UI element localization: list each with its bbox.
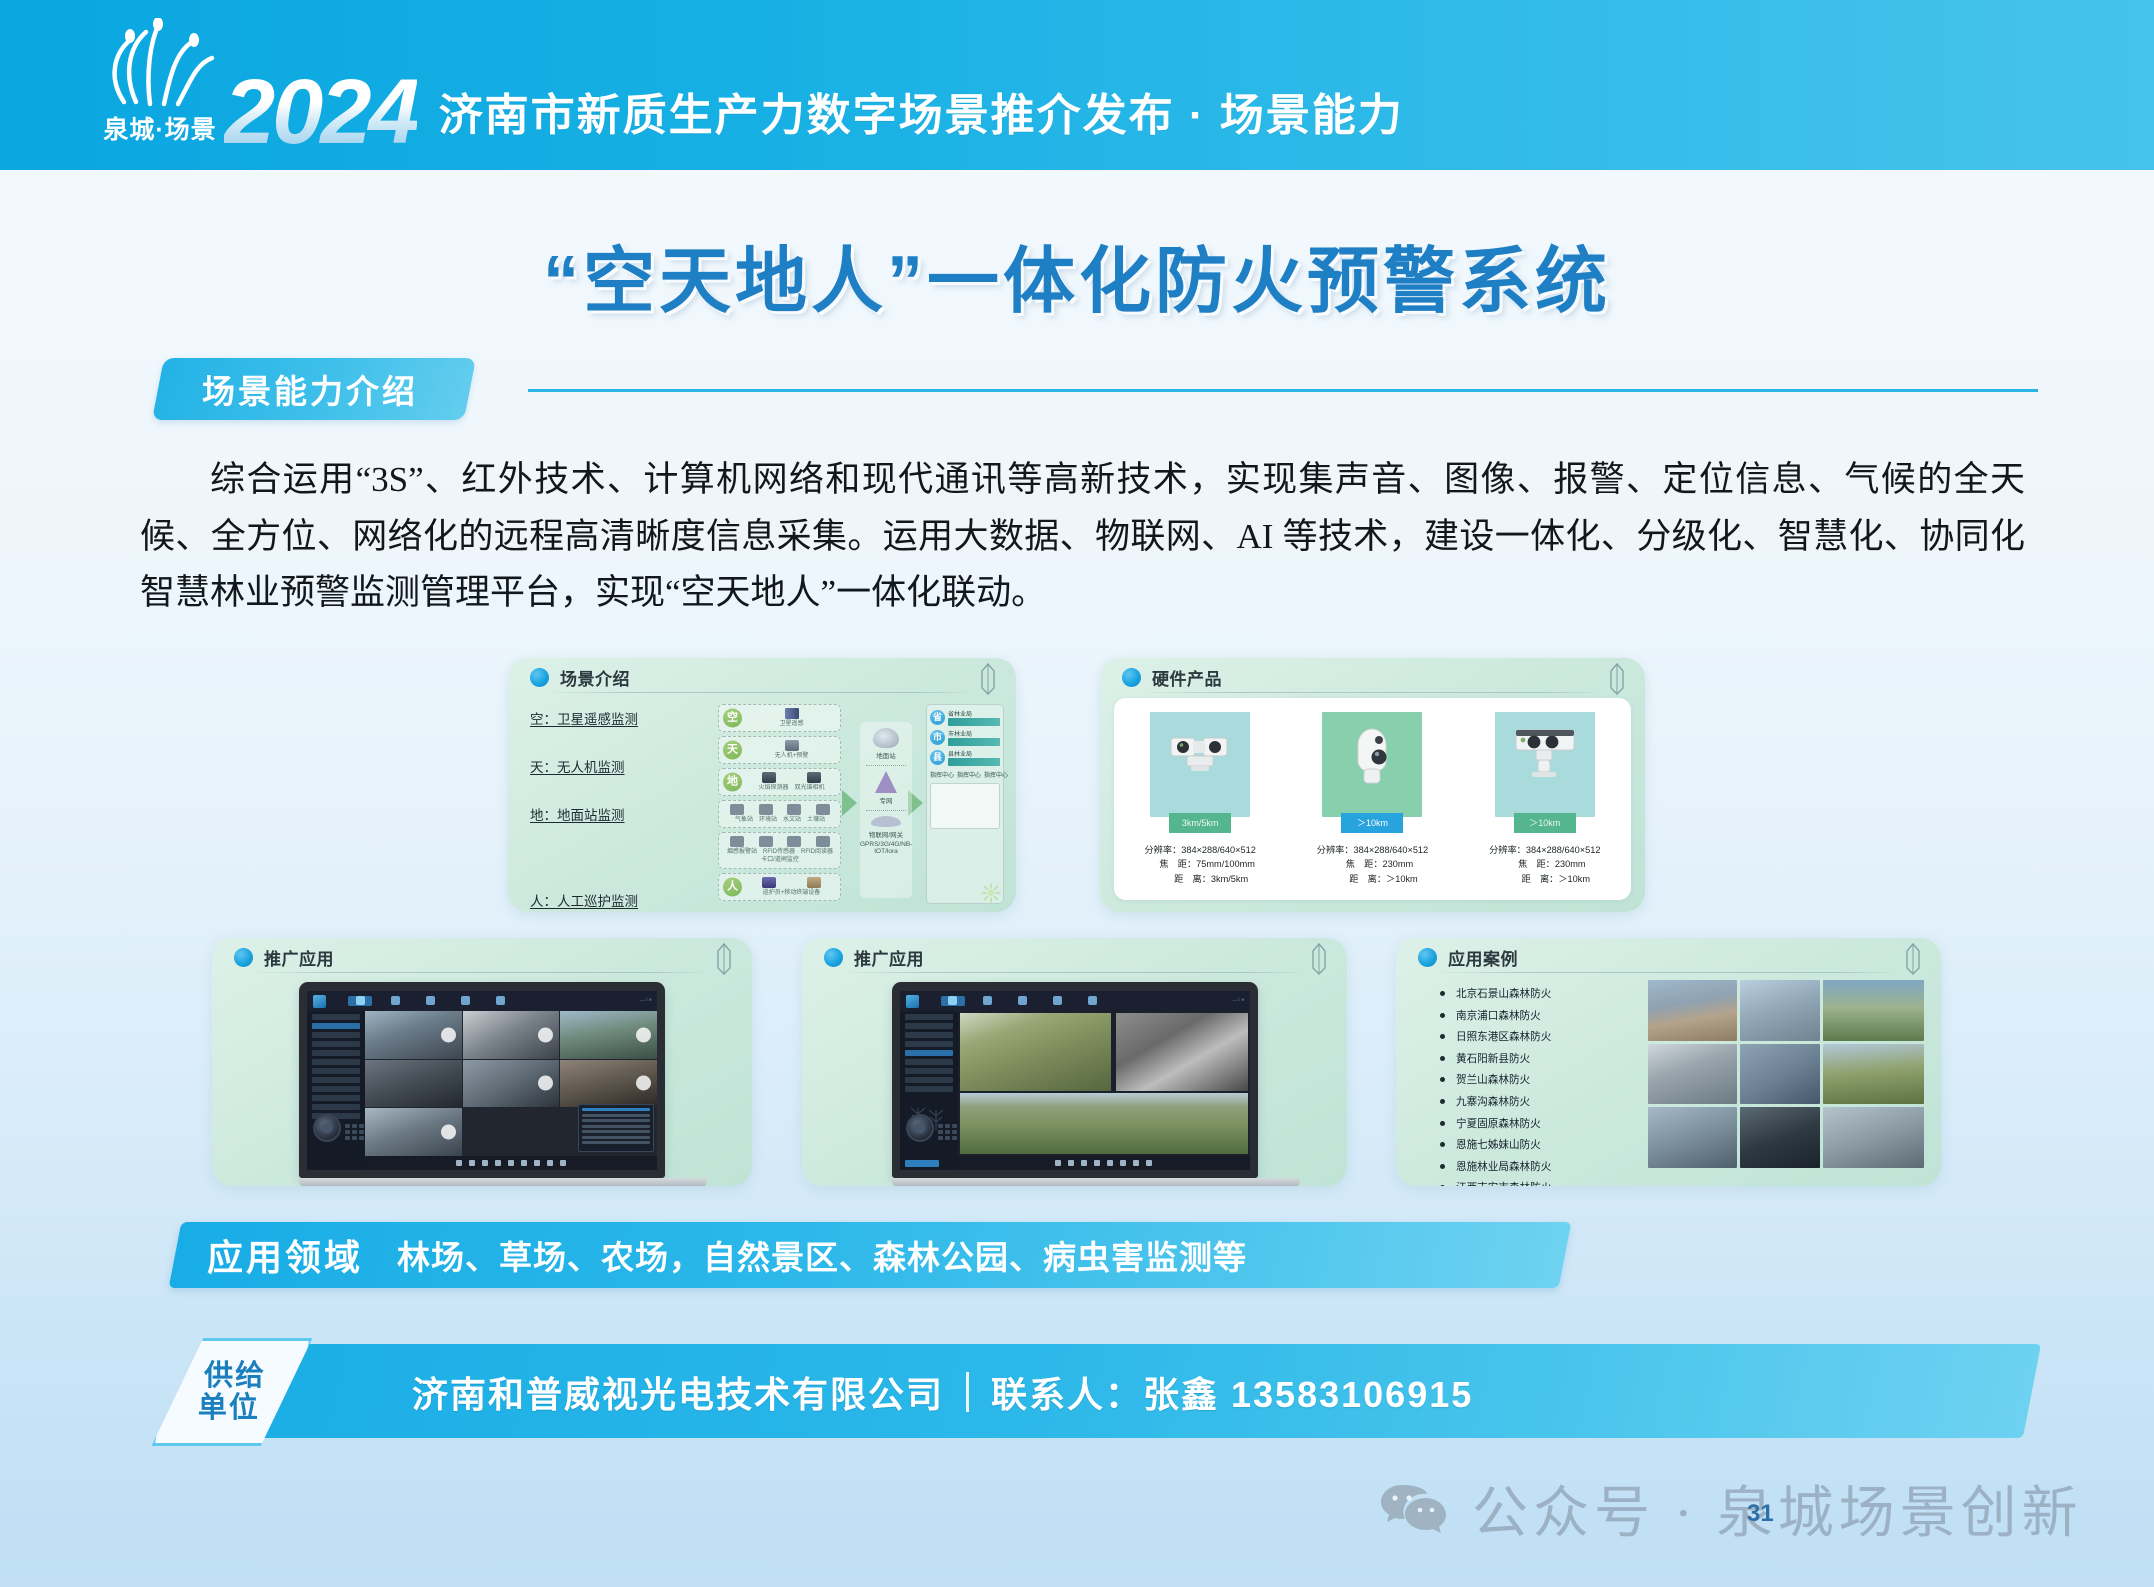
tab-alarm[interactable]	[976, 996, 1000, 1006]
bullet-icon	[1440, 1099, 1445, 1104]
case-label: 日照东港区森林防火	[1456, 1029, 1551, 1044]
header-title: 济南市新质生产力数字场景推介发布 · 场景能力	[439, 79, 1404, 143]
scene-source-stations: 气象站 环境站 水文站 土壤站	[718, 800, 841, 828]
rfid-reader-icon	[787, 836, 801, 847]
scene-label-0: 空：卫星遥感监测	[530, 708, 710, 728]
ground-icon-row	[747, 772, 836, 784]
section-badge: 场景能力介绍	[152, 358, 476, 420]
toolbar-fullscreen-icon[interactable]	[560, 1160, 566, 1166]
case-photo	[1740, 980, 1821, 1041]
bullet-icon	[1440, 1164, 1445, 1169]
laptop-screen: — □ ✕	[900, 991, 1250, 1170]
scene-platform-column: 省 省林业局 市 市林业局 县 县林业局	[926, 704, 1004, 904]
scene-caption-5: 巡护员+移动终端设备	[747, 889, 836, 897]
patrol-person-icon	[807, 877, 821, 888]
scene-source-sky: 空 卫星遥感	[718, 704, 841, 732]
supplier-company: 济南和普威视光电技术有限公司	[412, 1366, 944, 1418]
case-photo	[1823, 980, 1924, 1041]
card-application-cases: 应用案例 北京石景山森林防火 南京浦口森林防火 日照东港区森林防火 黄石阳新县防…	[1396, 938, 1941, 1186]
arrow-right-icon-1	[842, 790, 857, 816]
toolbar-tool-icon[interactable]	[469, 1160, 475, 1166]
spec-distance-0: 距 离：3km/5km	[1125, 872, 1275, 886]
weather-station-icon	[730, 804, 744, 815]
tab-patrol[interactable]	[1011, 996, 1035, 1006]
spring-water-logo-icon	[100, 18, 220, 108]
bullet-icon	[1440, 1185, 1445, 1186]
case-label: 九寨沟森林防火	[1456, 1094, 1530, 1109]
video-cell[interactable]	[365, 1011, 462, 1059]
flame-detector-icon	[762, 772, 776, 783]
server-room-diagram	[930, 783, 1000, 829]
app-toolbar	[958, 1156, 1250, 1170]
ground-station-dish-icon	[873, 728, 899, 748]
sidebar-row[interactable]	[905, 1059, 953, 1065]
case-label: 恩施林业局森林防火	[1456, 1159, 1551, 1174]
application-field-label: 应用领域	[207, 1229, 363, 1281]
tab-playback[interactable]	[1046, 996, 1070, 1006]
level-bar-0	[948, 718, 1000, 726]
supplier-badge-line1: 供给	[204, 1360, 266, 1392]
tab-settings[interactable]	[1081, 996, 1105, 1006]
spec-resolution-0: 分辨率：384×288/640×512	[1125, 843, 1275, 857]
toolbar-tool-icon[interactable]	[1055, 1160, 1061, 1166]
iot-cloud-icon	[871, 816, 901, 827]
bullet-icon	[1440, 991, 1445, 996]
app-sidebar	[900, 1011, 958, 1170]
card-rule	[554, 692, 968, 693]
card-promotion-2: 推广应用 — □ ✕	[802, 938, 1347, 1186]
checkpoint-camera-icon	[816, 836, 830, 847]
toolbar-list-icon[interactable]	[1107, 1160, 1113, 1166]
video-cell[interactable]	[560, 1011, 657, 1059]
case-label: 江西吉安市森林防火	[1456, 1180, 1551, 1186]
scene-label-1: 天：无人机监测	[530, 756, 710, 776]
supplier-contact: 联系人：张鑫 13583106915	[991, 1366, 1473, 1418]
level-chip-0: 省	[930, 710, 945, 725]
sidebar-row[interactable]	[312, 1077, 360, 1083]
window-controls[interactable]: — □ ✕	[640, 997, 652, 1002]
toolbar-list-icon[interactable]	[456, 1160, 462, 1166]
bullet-icon	[1440, 1121, 1445, 1126]
scene-network-column: 地面站 专网 物联网/网关 GPRS/3G/4G/NB-IOT/lora	[860, 722, 912, 898]
bullet-icon	[1440, 1077, 1445, 1082]
video-cell[interactable]	[463, 1060, 560, 1108]
scene-source-human: 人 巡护员+移动终端设备	[718, 873, 841, 901]
list-item: 江西吉安市森林防火	[1440, 1180, 1640, 1186]
dual-lens-camera-icon	[1169, 732, 1231, 772]
tab-alarm[interactable]	[383, 996, 407, 1006]
play-button-icon[interactable]	[636, 1027, 651, 1042]
scene-source-air: 天 无人机+预警	[718, 736, 841, 764]
laptop-base	[299, 1178, 707, 1186]
spec-focal-0: 焦 距：75mm/100mm	[1125, 857, 1275, 871]
rfid-icon-row	[724, 836, 836, 848]
visible-light-view[interactable]	[960, 1013, 1112, 1091]
case-label: 南京浦口森林防火	[1456, 1008, 1541, 1023]
list-item: 九寨沟森林防火	[1440, 1094, 1640, 1109]
toolbar-layout-4-icon[interactable]	[1081, 1160, 1087, 1166]
application-field-inner: 应用领域 林场、草场、农场，自然景区、森林公园、病虫害监测等	[175, 1222, 1565, 1288]
platform-level-2: 县 县林业局	[930, 749, 1000, 766]
card-rule	[848, 972, 1299, 973]
pen-icon	[710, 942, 738, 976]
panel-row	[582, 1130, 650, 1133]
command-center-2: 指挥中心	[984, 770, 1008, 779]
network-label-3: GPRS/3G/4G/NB-IOT/lora	[860, 841, 912, 855]
scene-caption-3: 气象站 环境站 水文站 土壤站	[724, 816, 836, 824]
case-photo	[1648, 980, 1737, 1041]
section-paragraph: 综合运用“3S”、红外技术、计算机网络和现代通讯等高新技术，实现集声音、图像、报…	[140, 452, 2025, 622]
ptz-button-pad[interactable]	[345, 1124, 364, 1140]
panel-row	[582, 1119, 650, 1122]
wechat-watermark: 公众号 · 泉城场景创新	[1380, 1468, 2083, 1549]
toolbar-layout-9-icon[interactable]	[1094, 1160, 1100, 1166]
spec-resolution-2: 分辨率：384×288/640×512	[1470, 843, 1620, 857]
command-centers-row: 指挥中心 指挥中心 指挥中心	[930, 770, 1000, 779]
pen-icon	[1305, 942, 1333, 976]
video-cell[interactable]	[560, 1060, 657, 1108]
toolbar-layout-16-icon[interactable]	[521, 1160, 527, 1166]
pen-icon	[1899, 942, 1927, 976]
tab-monitoring[interactable]	[941, 996, 965, 1006]
level-chip-2: 县	[930, 750, 945, 765]
pen-icon	[1603, 662, 1631, 696]
hydrology-station-icon	[787, 804, 801, 815]
case-photo	[1823, 1044, 1924, 1105]
scene-caption-0: 卫星遥感	[747, 720, 836, 728]
case-list: 北京石景山森林防火 南京浦口森林防火 日照东港区森林防火 黄石阳新县防火 贺兰山…	[1440, 986, 1640, 1186]
card-title: 推广应用	[854, 945, 924, 970]
scene-caption-1: 无人机+预警	[747, 752, 836, 760]
bullet-icon	[1440, 1034, 1445, 1039]
panorama-view[interactable]	[960, 1093, 1248, 1154]
scene-label-3: 人：人工巡护监测	[530, 890, 710, 910]
level-bar-2	[948, 758, 1000, 766]
hardware-item-2: ＞10km 分辨率：384×288/640×512 焦 距：230mm 距 离：…	[1470, 712, 1620, 886]
toolbar-layout-1-icon[interactable]	[482, 1160, 488, 1166]
section-header: 场景能力介绍	[158, 358, 2038, 428]
video-cell[interactable]	[365, 1108, 462, 1156]
play-button-icon[interactable]	[538, 1076, 553, 1091]
application-field-bar: 应用领域 林场、草场、农场，自然景区、森林公园、病虫害监测等	[169, 1222, 1572, 1288]
toolbar-layout-4-icon[interactable]	[495, 1160, 501, 1166]
sidebar-row[interactable]	[312, 1041, 360, 1047]
app-topbar: — □ ✕	[307, 991, 657, 1011]
toolbar-snapshot-icon[interactable]	[534, 1160, 540, 1166]
window-controls[interactable]: — □ ✕	[1233, 997, 1245, 1002]
spec-focal-2: 焦 距：230mm	[1470, 857, 1620, 871]
level-chip-1: 市	[930, 730, 945, 745]
level-name-0: 省林业局	[948, 709, 1000, 718]
scene-source-rfid: 烟感报警站 RFID传感器 RFID阅读器 卡口/道闸监控	[718, 832, 841, 868]
sidebar-row[interactable]	[905, 1050, 953, 1056]
hardware-photo-1: ＞10km	[1322, 712, 1422, 817]
toolbar-fullscreen-icon[interactable]	[1146, 1160, 1152, 1166]
sidebar-row[interactable]	[905, 1014, 953, 1020]
sidebar-row[interactable]	[905, 1068, 953, 1074]
list-item: 贺兰山森林防火	[1440, 1072, 1640, 1087]
alarm-detail-panel	[578, 1104, 654, 1152]
toolbar-hd-icon[interactable]	[1120, 1160, 1126, 1166]
supplier-info: 济南和普威视光电技术有限公司 联系人：张鑫 13583106915	[412, 1338, 1473, 1446]
card-rule	[258, 972, 704, 973]
case-photo	[1648, 1107, 1737, 1168]
logo-text: 泉城·场景	[103, 110, 216, 146]
panel-row	[582, 1114, 650, 1117]
play-button-icon[interactable]	[636, 1076, 651, 1091]
patrol-terminal-icon	[762, 877, 776, 888]
list-item: 黄石阳新县防火	[1440, 1051, 1640, 1066]
toolbar-refresh-icon[interactable]	[1133, 1160, 1139, 1166]
section-rule	[528, 389, 2038, 392]
bullet-dot-icon	[234, 948, 253, 967]
case-photo-gallery	[1648, 980, 1924, 1168]
sidebar-row[interactable]	[312, 1050, 360, 1056]
panel-row	[582, 1136, 650, 1139]
header-brand: 泉城·场景 2024 济南市新质生产力数字场景推介发布 · 场景能力	[100, 18, 1404, 152]
app-tabs	[348, 996, 512, 1006]
sidebar-row[interactable]	[905, 1032, 953, 1038]
platform-level-0: 省 省林业局	[930, 709, 1000, 726]
network-label-2: 物联网/网关	[860, 829, 912, 839]
spec-resolution-1: 分辨率：384×288/640×512	[1297, 843, 1447, 857]
level-bar-1	[948, 738, 1000, 746]
hardware-tag-0: 3km/5km	[1169, 813, 1231, 833]
bullet-icon	[1440, 1013, 1445, 1018]
sidebar-row[interactable]	[905, 1023, 953, 1029]
list-item: 宁夏固原森林防火	[1440, 1116, 1640, 1131]
list-item: 南京浦口森林防火	[1440, 1008, 1640, 1023]
station-icon-row	[724, 804, 836, 816]
ptz-joystick-control[interactable]	[313, 1114, 341, 1142]
dual-spectrum-camera-icon	[807, 772, 821, 783]
hardware-tag-1: ＞10km	[1341, 813, 1403, 833]
bullet-icon	[1440, 1056, 1445, 1061]
sidebar-row[interactable]	[312, 1086, 360, 1092]
hardware-panel: 3km/5km 分辨率：384×288/640×512 焦 距：75mm/100…	[1114, 698, 1631, 900]
case-photo	[1740, 1044, 1821, 1105]
page-number: 31	[1747, 1500, 1774, 1528]
rfid-sensor-icon	[759, 836, 773, 847]
sidebar-row[interactable]	[312, 1095, 360, 1101]
card-title: 硬件产品	[1152, 665, 1222, 690]
card-header: 推广应用	[802, 938, 1347, 976]
play-button-icon[interactable]	[441, 1027, 456, 1042]
card-title: 场景介绍	[560, 665, 630, 690]
bullet-dot-icon	[824, 948, 843, 967]
sun-decoration-icon	[980, 882, 1002, 904]
application-field-value: 林场、草场、农场，自然景区、森林公园、病虫害监测等	[397, 1231, 1247, 1279]
panel-row	[582, 1125, 650, 1128]
scene-caption-4: 烟感报警站 RFID传感器 RFID阅读器 卡口/道闸监控	[724, 848, 836, 864]
card-promotion-1: 推广应用 — □ ✕	[212, 938, 752, 1186]
play-button-icon[interactable]	[538, 1027, 553, 1042]
human-icon-row	[747, 877, 836, 889]
smoke-alarm-icon	[730, 836, 744, 847]
sidebar-row[interactable]	[905, 1077, 953, 1083]
card-title: 应用案例	[1448, 945, 1518, 970]
sidebar-row[interactable]	[312, 1014, 360, 1020]
long-range-thermal-camera-icon	[1512, 726, 1578, 778]
hardware-specs-1: 分辨率：384×288/640×512 焦 距：230mm 距 离：＞10km	[1297, 843, 1447, 886]
scene-labels: 空：卫星遥感监测 天：无人机监测 地：地面站监测 人：人工巡护监测	[530, 708, 710, 912]
scene-label-2: 地：地面站监测	[530, 804, 710, 824]
level-name-2: 县林业局	[948, 749, 1000, 758]
case-label: 北京石景山森林防火	[1456, 986, 1551, 1001]
laptop-mockup-1: — □ ✕	[299, 982, 665, 1186]
panel-row[interactable]	[582, 1108, 650, 1111]
sidebar-row[interactable]	[312, 1068, 360, 1074]
scene-sources-column: 空 卫星遥感 天 无人机+预警 地 火焰探测器 双光谱相机	[718, 704, 841, 905]
card-header: 应用案例	[1396, 938, 1941, 976]
laptop-lid: — □ ✕	[892, 982, 1258, 1178]
tab-playback[interactable]	[453, 996, 477, 1006]
case-photo	[1740, 1107, 1821, 1168]
app-logo-icon	[906, 995, 919, 1008]
card-scene-intro: 场景介绍 空：卫星遥感监测 天：无人机监测 地：地面站监测 人：人工巡护监测 空…	[508, 658, 1016, 912]
network-label-1: 专网	[860, 795, 912, 805]
video-cell[interactable]	[463, 1011, 560, 1059]
spec-distance-1: 距 离：＞10km	[1297, 872, 1447, 886]
year-badge: 2024	[224, 66, 417, 158]
laptop-lid: — □ ✕	[299, 982, 665, 1178]
scene-caption-2: 火焰探测器 双光谱相机	[747, 784, 836, 792]
drone-icon	[785, 740, 799, 751]
divider	[866, 810, 906, 811]
network-tower-icon	[875, 771, 897, 793]
divider	[966, 1372, 969, 1412]
sidebar-row[interactable]	[312, 1023, 360, 1029]
sidebar-row[interactable]	[312, 1032, 360, 1038]
spec-focal-1: 焦 距：230mm	[1297, 857, 1447, 871]
case-photo	[1648, 1044, 1737, 1105]
laptop-mockup-2: — □ ✕	[892, 982, 1258, 1186]
video-cell[interactable]	[365, 1060, 462, 1108]
tab-patrol[interactable]	[418, 996, 442, 1006]
bullet-dot-icon	[1418, 948, 1437, 967]
ptz-button-pad[interactable]	[938, 1124, 957, 1140]
laptop-base	[892, 1178, 1300, 1186]
soil-station-icon	[816, 804, 830, 815]
scene-chip-2: 地	[723, 773, 742, 792]
hardware-item-1: ＞10km 分辨率：384×288/640×512 焦 距：230mm 距 离：…	[1297, 712, 1447, 886]
logo-block: 泉城·场景	[100, 18, 220, 146]
card-hardware-products: 硬件产品 3km/5km	[1100, 658, 1645, 912]
watermark-text: 公众号 · 泉城场景创新	[1472, 1468, 2083, 1549]
network-label-0: 地面站	[860, 750, 912, 760]
hardware-tag-2: ＞10km	[1514, 813, 1576, 833]
case-label: 恩施七姊妹山防火	[1456, 1137, 1541, 1152]
bullet-dot-icon	[1122, 668, 1141, 687]
hardware-specs-2: 分辨率：384×288/640×512 焦 距：230mm 距 离：＞10km	[1470, 843, 1620, 886]
list-item: 恩施七姊妹山防火	[1440, 1137, 1640, 1152]
list-item: 恩施林业局森林防火	[1440, 1159, 1640, 1174]
hardware-photo-0: 3km/5km	[1150, 712, 1250, 817]
case-photo	[1823, 1107, 1924, 1168]
command-center-1: 指挥中心	[957, 770, 981, 779]
hardware-photo-2: ＞10km	[1495, 712, 1595, 817]
app-tabs	[941, 996, 1105, 1006]
app-logo-icon	[313, 995, 326, 1008]
card-rule	[1442, 972, 1893, 973]
app-toolbar	[365, 1156, 657, 1170]
card-header: 场景介绍	[508, 658, 1016, 696]
pen-icon	[974, 662, 1002, 696]
tab-settings[interactable]	[488, 996, 512, 1006]
card-header: 推广应用	[212, 938, 752, 976]
list-item: 日照东港区森林防火	[1440, 1029, 1640, 1044]
case-label: 宁夏固原森林防火	[1456, 1116, 1541, 1131]
toolbar-record-icon[interactable]	[547, 1160, 553, 1166]
bullet-icon	[1440, 1142, 1445, 1147]
case-label: 贺兰山森林防火	[1456, 1072, 1530, 1087]
supplier-badge-line2: 单位	[198, 1392, 260, 1424]
toolbar-layout-9-icon[interactable]	[508, 1160, 514, 1166]
bullet-dot-icon	[530, 668, 549, 687]
card-header: 硬件产品	[1100, 658, 1645, 696]
play-button-icon[interactable]	[441, 1125, 456, 1140]
thermal-view[interactable]	[1116, 1013, 1247, 1091]
video-cell-empty[interactable]	[463, 1108, 560, 1156]
case-label: 黄石阳新县防火	[1456, 1051, 1530, 1066]
toolbar-layout-1-icon[interactable]	[1068, 1160, 1074, 1166]
wechat-icon	[1380, 1481, 1446, 1537]
scene-source-ground: 地 火焰探测器 双光谱相机	[718, 768, 841, 796]
environment-station-icon	[759, 804, 773, 815]
scene-diagram: 空：卫星遥感监测 天：无人机监测 地：地面站监测 人：人工巡护监测 空 卫星遥感…	[508, 698, 1016, 912]
ptz-joystick-control[interactable]	[906, 1114, 934, 1142]
monitor-viewport	[958, 1011, 1250, 1156]
laptop-screen: — □ ✕	[307, 991, 657, 1170]
divider	[866, 765, 906, 766]
section-badge-label: 场景能力介绍	[202, 365, 418, 413]
hardware-specs-0: 分辨率：384×288/640×512 焦 距：75mm/100mm 距 离：3…	[1125, 843, 1275, 886]
scene-chip-5: 人	[723, 877, 742, 896]
sidebar-row[interactable]	[312, 1104, 360, 1110]
app-sidebar	[307, 1011, 365, 1170]
level-name-1: 市林业局	[948, 729, 1000, 738]
panel-row	[582, 1141, 650, 1144]
platform-level-1: 市 市林业局	[930, 729, 1000, 746]
supplier-bar: 供给 单位 济南和普威视光电技术有限公司 联系人：张鑫 13583106915	[162, 1338, 2032, 1446]
scene-chip-0: 空	[723, 709, 742, 728]
spec-distance-2: 距 离：＞10km	[1470, 872, 1620, 886]
list-item: 北京石景山森林防火	[1440, 986, 1640, 1001]
sidebar-row[interactable]	[905, 1041, 953, 1047]
hardware-grid: 3km/5km 分辨率：384×288/640×512 焦 距：75mm/100…	[1114, 698, 1631, 886]
hardware-item-0: 3km/5km 分辨率：384×288/640×512 焦 距：75mm/100…	[1125, 712, 1275, 886]
page-header: 泉城·场景 2024 济南市新质生产力数字场景推介发布 · 场景能力	[0, 0, 2154, 170]
sidebar-action-button[interactable]	[905, 1160, 939, 1167]
card-title: 推广应用	[264, 945, 334, 970]
scene-chip-1: 天	[723, 741, 742, 760]
command-center-0: 指挥中心	[930, 770, 954, 779]
page-title: “空天地人”一体化防火预警系统	[0, 222, 2154, 327]
tab-monitoring[interactable]	[348, 996, 372, 1006]
ptz-dome-camera-icon	[1346, 723, 1398, 785]
satellite-icon	[785, 708, 799, 719]
card-rule	[1146, 692, 1597, 693]
sidebar-row[interactable]	[312, 1059, 360, 1065]
app-topbar: — □ ✕	[900, 991, 1250, 1011]
